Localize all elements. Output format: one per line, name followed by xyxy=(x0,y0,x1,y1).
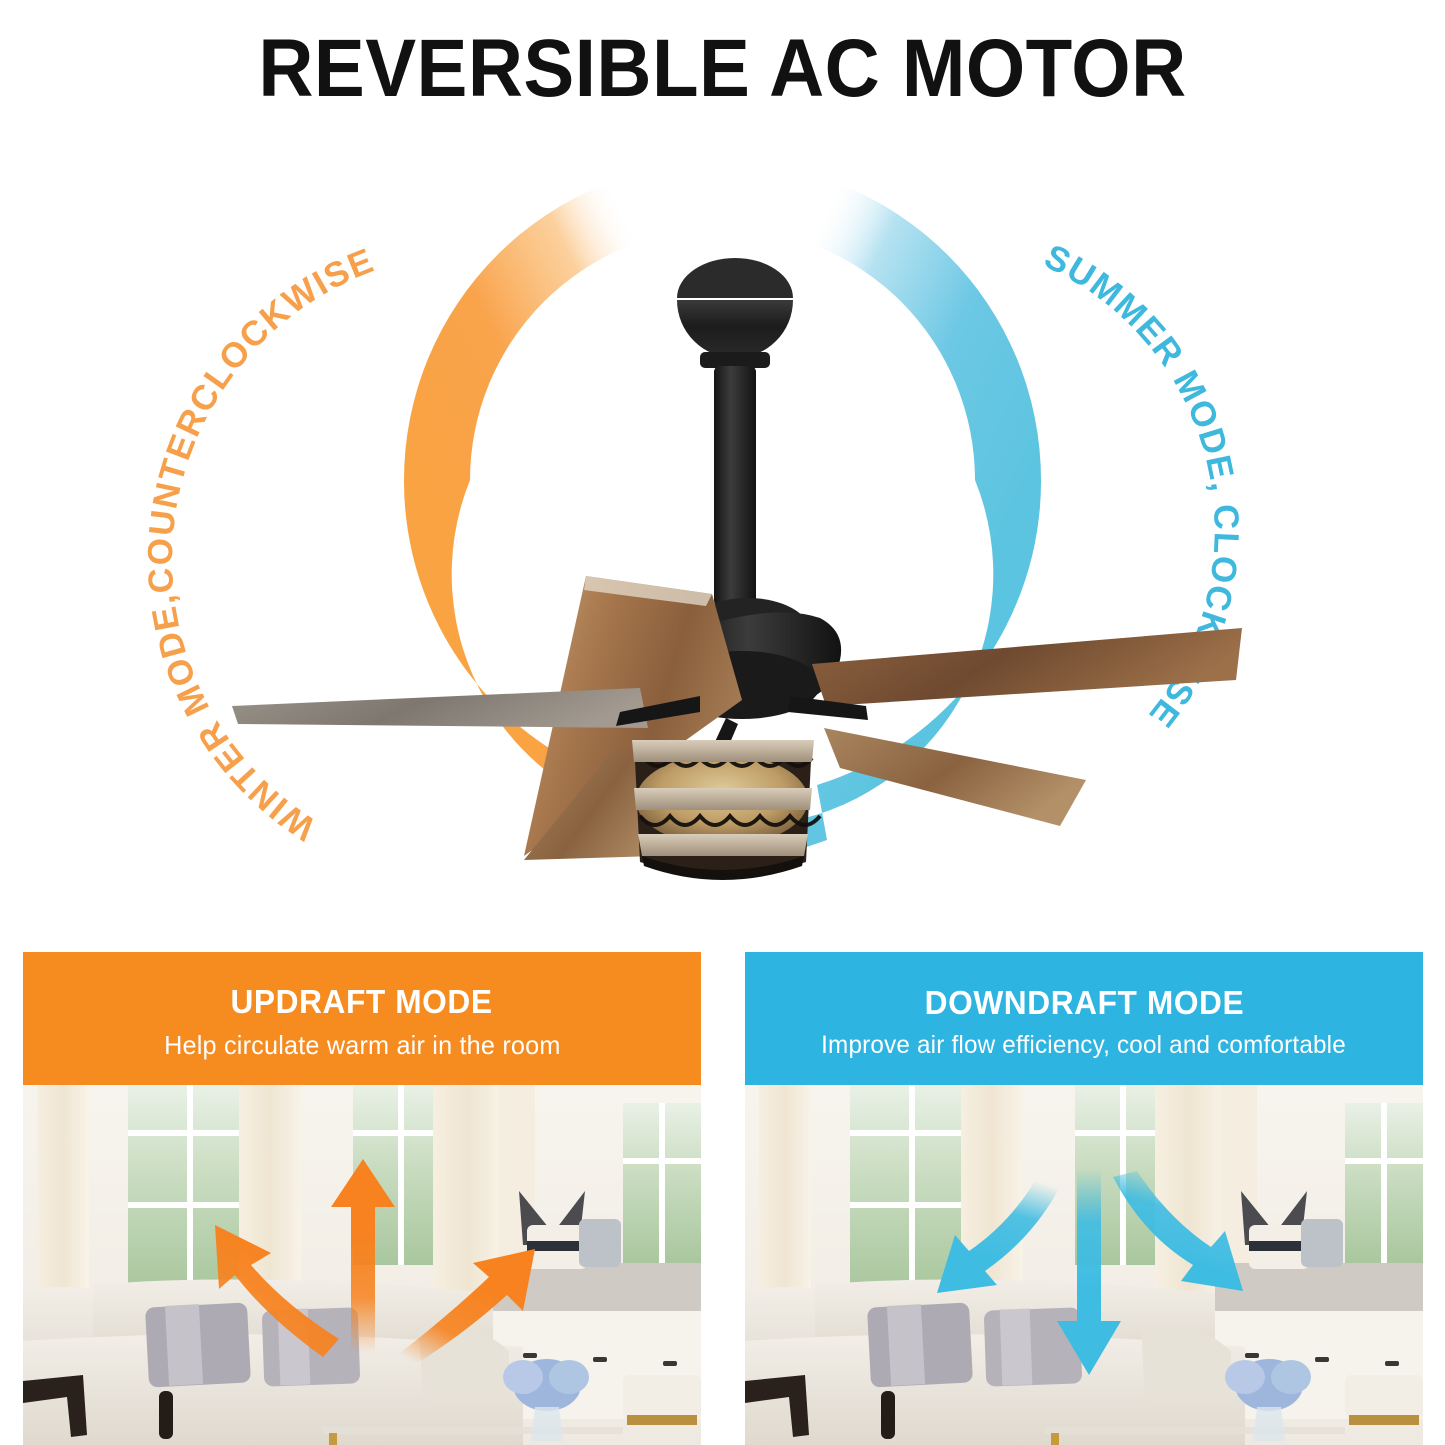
updraft-title: UPDRAFT MODE xyxy=(231,983,493,1021)
updraft-header: UPDRAFT MODE Help circulate warm air in … xyxy=(23,952,701,1085)
airflow-arcs: WINTER MODE,COUNTERCLOCKWISE SUMMER MODE… xyxy=(0,140,1445,940)
downdraft-subtitle: Improve air flow efficiency, cool and co… xyxy=(822,1031,1347,1060)
clockwise-arc xyxy=(723,162,1041,875)
winter-mode-label: WINTER MODE,COUNTERCLOCKWISE xyxy=(141,241,380,848)
downdraft-room-photo xyxy=(745,1085,1423,1445)
updraft-subtitle: Help circulate warm air in the room xyxy=(164,1030,560,1061)
mode-comparison-panels: UPDRAFT MODE Help circulate warm air in … xyxy=(0,952,1445,1445)
downdraft-title: DOWNDRAFT MODE xyxy=(924,984,1244,1022)
page-title: REVERSIBLE AC MOTOR xyxy=(51,22,1395,116)
reversible-motor-diagram: WINTER MODE,COUNTERCLOCKWISE SUMMER MODE… xyxy=(0,140,1445,940)
summer-mode-label: SUMMER MODE, CLOCKWISE xyxy=(1039,237,1246,735)
updraft-mode-panel[interactable]: UPDRAFT MODE Help circulate warm air in … xyxy=(23,952,701,1445)
downdraft-mode-panel[interactable]: DOWNDRAFT MODE Improve air flow efficien… xyxy=(745,952,1423,1445)
counterclockwise-arc xyxy=(404,162,722,875)
downdraft-header: DOWNDRAFT MODE Improve air flow efficien… xyxy=(745,952,1423,1085)
updraft-room-photo xyxy=(23,1085,701,1445)
